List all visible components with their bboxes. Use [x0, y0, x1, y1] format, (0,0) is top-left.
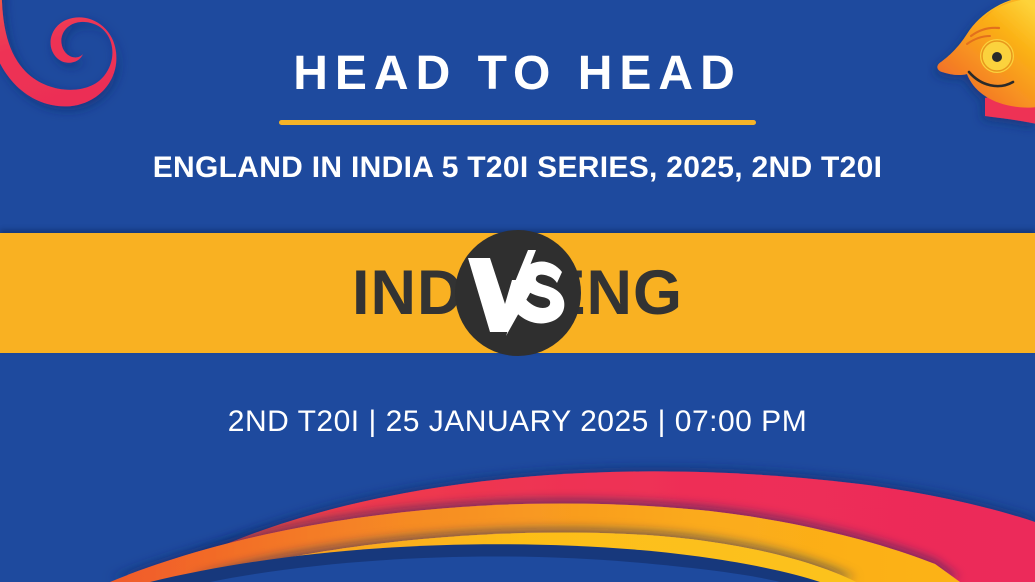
- match-details: 2ND T20I | 25 JANUARY 2025 | 07:00 PM: [0, 405, 1035, 439]
- head-to-head-poster: HEAD TO HEAD ENGLAND IN INDIA 5 T20I SER…: [0, 0, 1035, 582]
- versus-badge: [455, 230, 581, 356]
- poster-header: HEAD TO HEAD ENGLAND IN INDIA 5 T20I SER…: [0, 0, 1035, 232]
- versus-lightning-icon: [464, 250, 572, 336]
- page-title: HEAD TO HEAD: [293, 50, 741, 98]
- matchup-band: IND ENG: [0, 233, 1035, 353]
- home-team-code: IND: [352, 262, 464, 325]
- series-title: ENGLAND IN INDIA 5 T20I SERIES, 2025, 2N…: [153, 151, 883, 185]
- title-divider: [279, 120, 756, 125]
- curved-ribbon-arcs-icon: [0, 432, 1035, 582]
